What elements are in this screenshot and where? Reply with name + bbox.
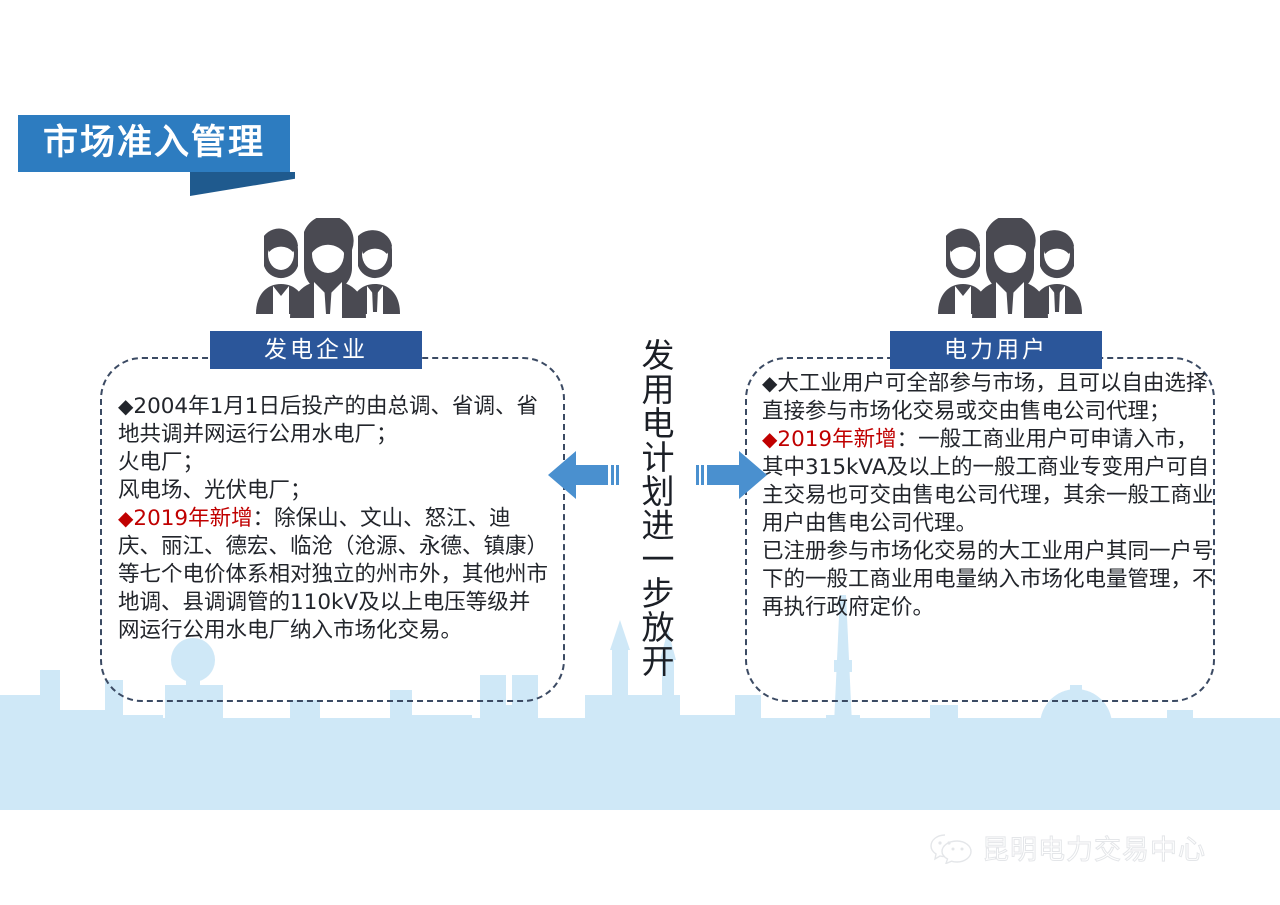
list-item: ◆大工业用户可全部参与市场，且可以自由选择直接参与市场化交易或交由售电公司代理； bbox=[762, 370, 1214, 426]
list-item-text: 2004年1月1日后投产的由总调、省调、省地共调并网运行公用水电厂； bbox=[118, 394, 538, 447]
page-title: 市场准入管理 bbox=[18, 115, 290, 172]
list-item-text: 大工业用户可全部参与市场，且可以自由选择直接参与市场化交易或交由售电公司代理； bbox=[762, 371, 1207, 424]
list-item: 已注册参与市场化交易的大工业用户其同一户号下的一般工商业用电量纳入市场化电量管理… bbox=[762, 538, 1214, 622]
list-item-text: 风电场、光伏电厂； bbox=[118, 478, 312, 503]
list-item-text: 火电厂； bbox=[118, 450, 204, 475]
arrow-right bbox=[692, 448, 767, 508]
people-group-icon bbox=[910, 218, 1110, 318]
diamond-bullet-icon: ◆ bbox=[762, 371, 777, 395]
list-item: ◆2019年新增：一般工商业用户可申请入市，其中315kVA及以上的一般工商业专… bbox=[762, 426, 1214, 538]
arrow-right-icon bbox=[692, 448, 767, 503]
panel-tab-power-user: 电力用户 bbox=[890, 331, 1102, 369]
power-user-content: ◆大工业用户可全部参与市场，且可以自由选择直接参与市场化交易或交由售电公司代理；… bbox=[762, 370, 1214, 621]
slide-canvas: 市场准入管理 bbox=[0, 0, 1280, 905]
generation-enterprise-content: ◆2004年1月1日后投产的由总调、省调、省地共调并网运行公用水电厂； 火电厂；… bbox=[118, 393, 550, 644]
wechat-icon bbox=[930, 832, 972, 864]
list-item: 火电厂； bbox=[118, 449, 550, 477]
watermark: 昆明电力交易中心 bbox=[930, 828, 1206, 867]
list-item-highlight: 2019年新增 bbox=[777, 427, 896, 452]
watermark-text: 昆明电力交易中心 bbox=[982, 828, 1206, 867]
skyline-ground bbox=[0, 718, 1280, 810]
center-vertical-caption: 发用电计划进一步放开 bbox=[626, 338, 672, 678]
arrow-left bbox=[548, 448, 623, 508]
list-item: ◆2004年1月1日后投产的由总调、省调、省地共调并网运行公用水电厂； bbox=[118, 393, 550, 449]
list-item-highlight: 2019年新增 bbox=[133, 506, 252, 531]
list-item: ◆2019年新增：除保山、文山、怒江、迪庆、丽江、德宏、临沧（沧源、永德、镇康）… bbox=[118, 505, 550, 645]
people-group-icon-right bbox=[910, 218, 1110, 323]
panel-tab-generation-enterprise: 发电企业 bbox=[210, 331, 422, 369]
people-group-icon-left bbox=[228, 218, 428, 323]
title-banner-tail bbox=[190, 172, 295, 196]
list-item-text: 已注册参与市场化交易的大工业用户其同一户号下的一般工商业用电量纳入市场化电量管理… bbox=[762, 539, 1214, 620]
people-group-icon bbox=[228, 218, 428, 318]
arrow-left-icon bbox=[548, 448, 623, 503]
list-item: 风电场、光伏电厂； bbox=[118, 477, 550, 505]
title-banner: 市场准入管理 bbox=[18, 115, 290, 172]
diamond-bullet-icon-highlight: ◆ bbox=[118, 506, 133, 530]
diamond-bullet-icon: ◆ bbox=[118, 394, 133, 418]
